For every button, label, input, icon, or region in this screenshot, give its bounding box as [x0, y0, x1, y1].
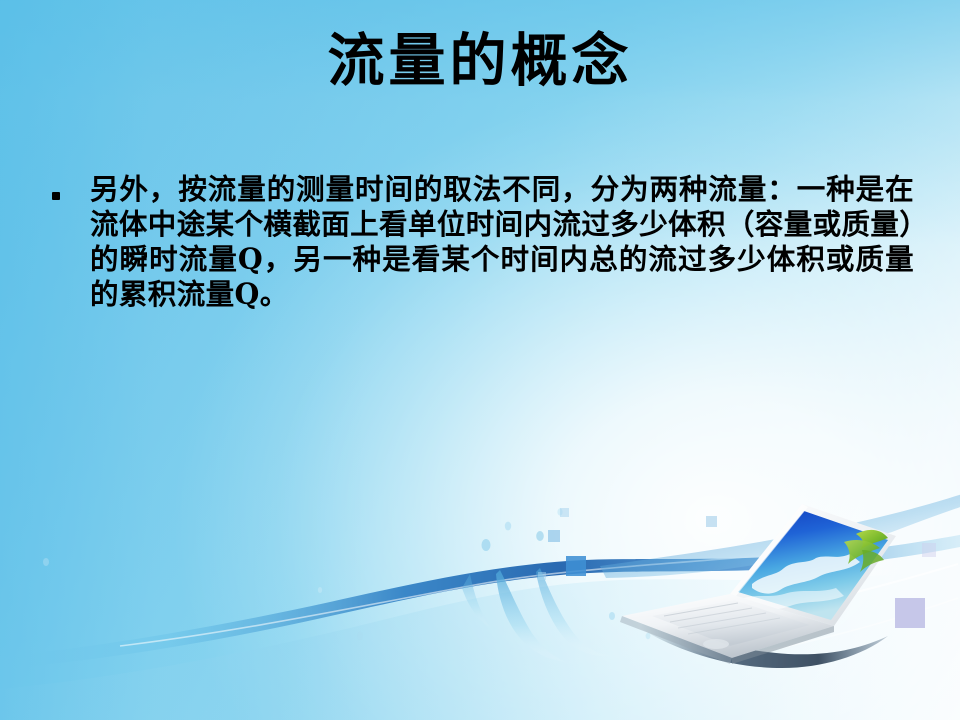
slide-title: 流量的概念 — [0, 28, 960, 94]
bullet-list: 另外，按流量的测量时间的取法不同，分为两种流量：一种是在流体中途某个横截面上看单… — [52, 172, 914, 312]
presentation-slide: 流量的概念 另外，按流量的测量时间的取法不同，分为两种流量：一种是在流体中途某个… — [0, 0, 960, 720]
bullet-paragraph-text: 另外，按流量的测量时间的取法不同，分为两种流量：一种是在流体中途某个横截面上看单… — [90, 172, 914, 312]
bullet-marker-icon — [52, 192, 60, 200]
slide-background-left-wash — [0, 0, 960, 720]
